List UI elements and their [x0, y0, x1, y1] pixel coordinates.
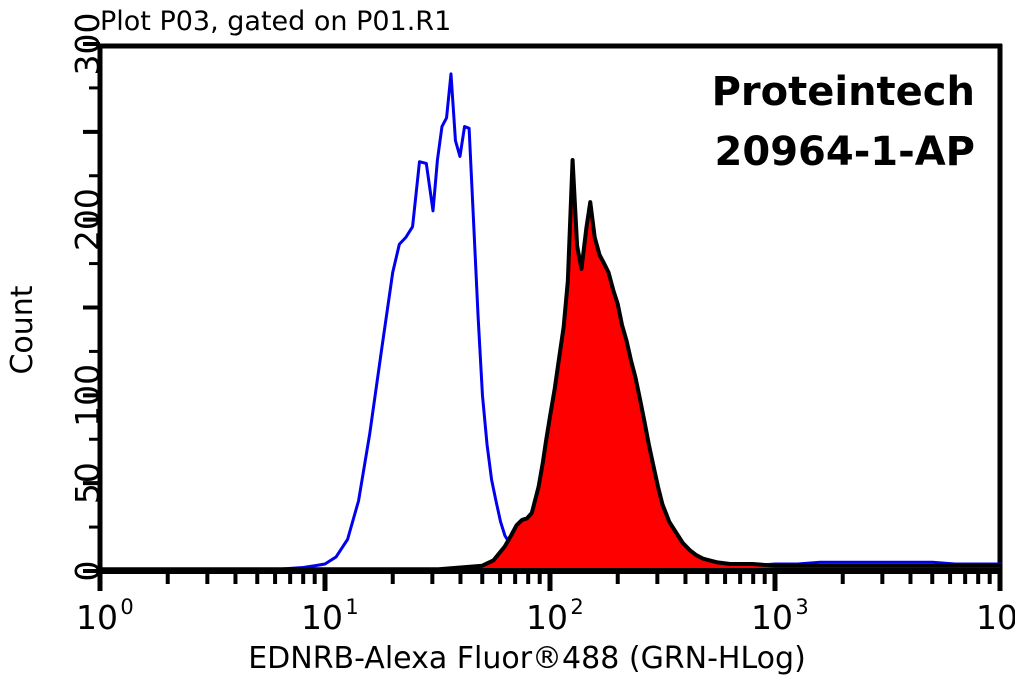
svg-text:10: 10 [751, 598, 793, 637]
x-axis-tick-labels: 100101102103104 [76, 595, 1015, 637]
svg-text:3: 3 [795, 595, 808, 619]
svg-text:10: 10 [976, 598, 1015, 637]
flow-cytometry-histogram-figure: 050100200300 100101102103104 Count EDNRB… [0, 0, 1015, 683]
svg-text:1: 1 [345, 595, 358, 619]
plot-title: Plot P03, gated on P01.R1 [100, 6, 451, 37]
x-tick-label: 104 [976, 595, 1015, 637]
watermark-catalog-number: 20964-1-AP [715, 129, 975, 175]
watermark-brand: Proteintech [712, 69, 975, 115]
y-axis-title: Count [5, 285, 40, 374]
svg-text:2: 2 [570, 595, 583, 619]
x-axis-title: EDNRB-Alexa Fluor®488 (GRN-HLog) [248, 641, 806, 676]
svg-text:10: 10 [301, 598, 343, 637]
plot-canvas: 050100200300 100101102103104 Count EDNRB… [0, 0, 1015, 683]
x-tick-label: 101 [301, 595, 359, 637]
x-tick-label: 102 [526, 595, 584, 637]
svg-text:0: 0 [120, 595, 133, 619]
x-tick-label: 103 [751, 595, 809, 637]
y-tick-label: 200 [68, 188, 107, 251]
series-fill-EDNRB-Alexa-Fluor-488-stained [100, 160, 1000, 571]
svg-text:10: 10 [76, 598, 118, 637]
svg-text:10: 10 [526, 598, 568, 637]
y-tick-label: 100 [68, 364, 107, 427]
x-tick-label: 100 [76, 595, 134, 637]
y-tick-label: 50 [68, 462, 107, 504]
